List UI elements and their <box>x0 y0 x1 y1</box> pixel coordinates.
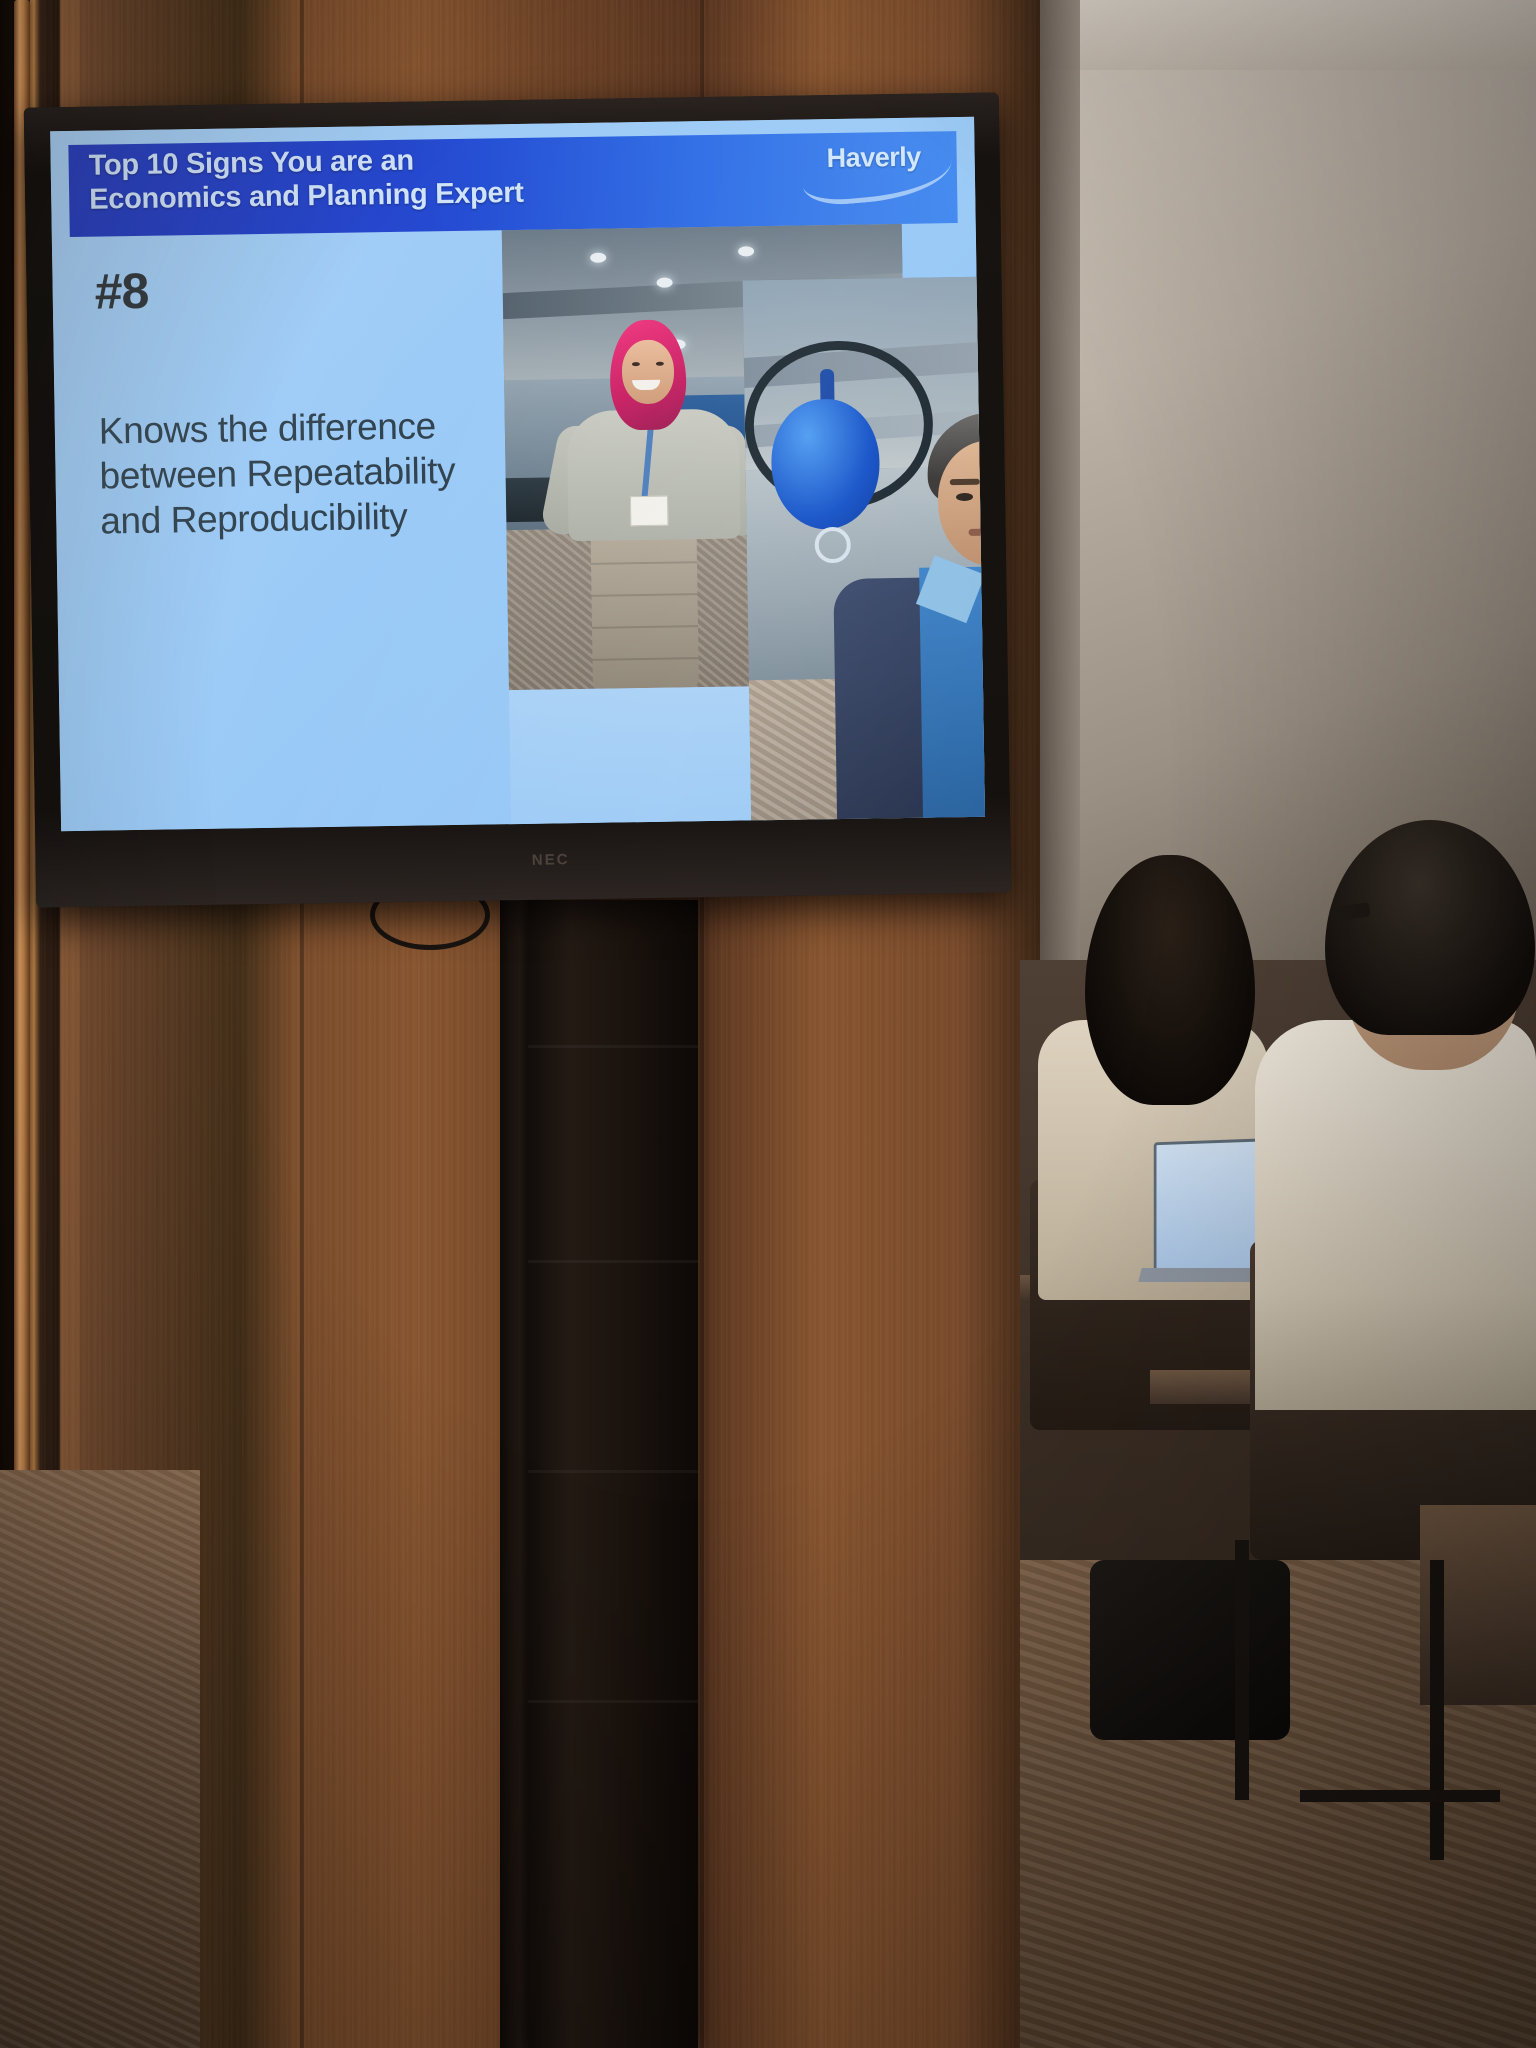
conference-badge <box>630 496 668 527</box>
presentation-monitor[interactable]: NEC Top 10 Signs You are an Economics an… <box>24 92 1011 907</box>
subject-skirt <box>590 527 699 689</box>
carpet-left-pattern <box>0 1470 200 2048</box>
haverly-logo: Haverly <box>802 139 953 199</box>
slide-body-line-1: Knows the difference <box>99 402 520 454</box>
chair-leg <box>1430 1560 1444 1860</box>
slide-item-number: #8 <box>94 262 149 321</box>
cable-cover-fold <box>528 1045 698 1048</box>
cable-cover-fold <box>528 1470 698 1473</box>
chair-base-bar <box>1300 1790 1500 1802</box>
slide-background-fill <box>509 686 751 824</box>
conference-room-scene: NEC Top 10 Signs You are an Economics an… <box>0 0 1536 2048</box>
wall-upper-shadow <box>1020 0 1536 70</box>
backpack <box>1090 1560 1290 1740</box>
cable-cover-fold <box>528 1700 698 1703</box>
presentation-slide: Top 10 Signs You are an Economics and Pl… <box>50 117 985 831</box>
logo-text: Haverly <box>826 142 921 174</box>
chair-leg <box>1235 1540 1249 1800</box>
slide-body-line-3: and Reproducibility <box>100 492 521 544</box>
cable-cover-sleeve <box>528 900 698 2048</box>
cable-cover-fold <box>528 1260 698 1263</box>
subject-face <box>622 340 675 405</box>
monitor-brand-label: NEC <box>506 851 596 874</box>
slide-title: Top 10 Signs You are an Economics and Pl… <box>88 139 729 217</box>
photo-man-blue-blazer <box>743 272 985 831</box>
attendee-front-body <box>1255 1020 1536 1410</box>
attendee-back-hair <box>1085 855 1255 1105</box>
subject-eyebrow <box>950 479 980 485</box>
slide-body-line-2: between Repeatability <box>99 447 520 499</box>
monitor-screen[interactable]: Top 10 Signs You are an Economics and Pl… <box>50 117 985 831</box>
slide-body-text: Knows the difference between Repeatabili… <box>99 402 521 544</box>
